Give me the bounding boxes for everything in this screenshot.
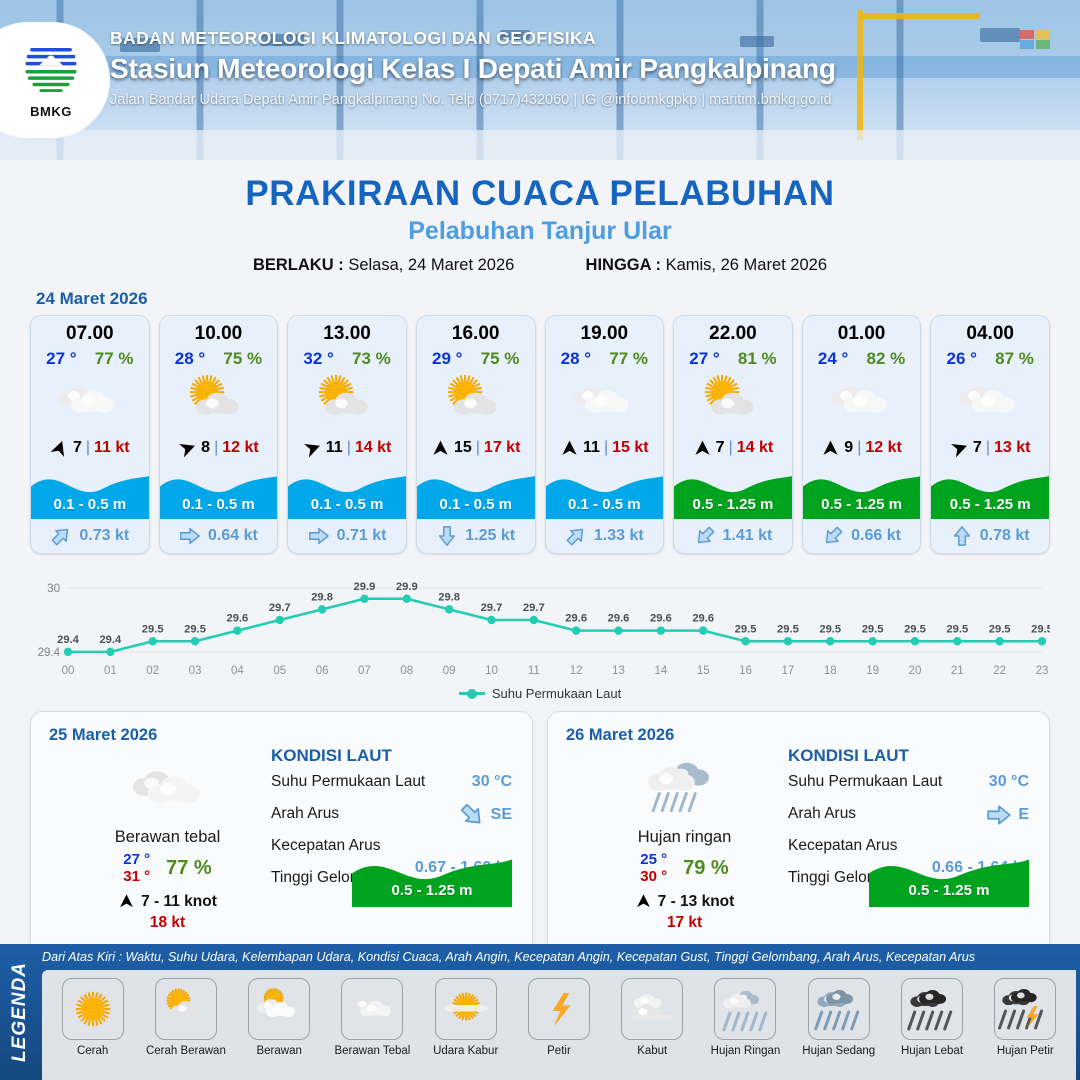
card-temperature: 24 ° — [818, 349, 848, 369]
chart-legend-swatch — [459, 692, 485, 695]
legend-icon-udara-kabur — [435, 978, 497, 1040]
svg-text:12: 12 — [570, 665, 583, 677]
card-weather-icon — [160, 371, 278, 433]
current-direction-value: E — [1018, 806, 1029, 824]
wind-direction-icon — [431, 439, 450, 458]
card-gust: 14 kt — [737, 439, 773, 457]
daily-humidity: 77 % — [166, 857, 212, 880]
validity-range: BERLAKU : Selasa, 24 Maret 2026 HINGGA :… — [0, 256, 1080, 275]
card-wave: 0.5 - 1.25 m — [931, 463, 1049, 519]
legend-item-label: Hujan Ringan — [699, 1045, 792, 1057]
card-wind: 7 | 13 kt — [931, 433, 1049, 463]
legend-side-label-wrap: LEGENDA — [0, 944, 40, 1080]
legend-item: Hujan Sedang — [792, 978, 885, 1057]
card-time: 16.00 — [417, 316, 535, 345]
svg-text:29.9: 29.9 — [396, 581, 418, 593]
daily-humidity: 79 % — [683, 857, 729, 880]
legend-icon-hujan-ringan — [714, 978, 776, 1040]
svg-text:01: 01 — [104, 665, 117, 677]
daily-wind: 7 - 11 knot — [65, 893, 270, 911]
card-wind-speed: 11 — [326, 439, 343, 457]
card-humidity: 77 % — [609, 349, 648, 369]
wind-direction-icon — [693, 439, 712, 458]
daily-gust: 18 kt — [65, 914, 270, 932]
legend-item-label: Cerah Berawan — [139, 1045, 232, 1057]
card-gust: 11 kt — [94, 439, 130, 457]
card-current-speed: 0.64 kt — [208, 527, 258, 545]
sst-value: 30 °C — [989, 773, 1029, 791]
current-direction-icon — [689, 520, 720, 551]
daily-wave-height: 0.5 - 1.25 m — [869, 882, 1029, 899]
card-wind: 7 | 14 kt — [674, 433, 792, 463]
svg-text:02: 02 — [146, 665, 159, 677]
current-direction-value-wrap: E — [986, 802, 1029, 828]
daily-forecast-panels: 25 Maret 2026 Berawan tebal 27 ° 31 ° 77… — [0, 701, 1080, 959]
legend-item: Cerah Berawan — [139, 978, 232, 1057]
card-wind-speed: 7 — [73, 439, 82, 457]
card-wind: 7 | 11 kt — [31, 433, 149, 463]
card-humidity: 82 % — [867, 349, 906, 369]
legend-item-label: Petir — [512, 1045, 605, 1057]
daily-wind-speed: 7 - 13 knot — [658, 893, 735, 911]
card-wind: 11 | 14 kt — [288, 433, 406, 463]
card-weather-icon — [288, 371, 406, 433]
card-temperature: 29 ° — [432, 349, 462, 369]
legend-icon-hujan-petir — [994, 978, 1056, 1040]
card-wave: 0.1 - 0.5 m — [546, 463, 664, 519]
page-header: BMKG BADAN METEOROLOGI KLIMATOLOGI DAN G… — [0, 0, 1080, 160]
svg-text:29.4: 29.4 — [38, 647, 61, 659]
legend-side-label: LEGENDA — [9, 962, 31, 1062]
sst-value: 30 °C — [472, 773, 512, 791]
sst-row: Suhu Permukaan Laut 30 °C — [788, 773, 1035, 805]
hourly-card[interactable]: 01.00 24 ° 82 % 9 | 12 kt 0.5 - 1.25 m — [802, 315, 922, 554]
daily-wind: 7 - 13 knot — [582, 893, 787, 911]
sea-condition-title: KONDISI LAUT — [271, 746, 518, 766]
card-humidity: 81 % — [738, 349, 777, 369]
berlaku-label: BERLAKU : — [253, 256, 344, 274]
legend-item: Hujan Lebat — [885, 978, 978, 1057]
current-direction-value-wrap: SE — [459, 802, 512, 828]
svg-text:09: 09 — [443, 665, 456, 677]
svg-text:29.5: 29.5 — [862, 623, 884, 635]
legend-item-label: Hujan Petir — [979, 1045, 1072, 1057]
legend-icon-berawan-sun — [248, 978, 310, 1040]
card-temperature: 28 ° — [561, 349, 591, 369]
svg-text:07: 07 — [358, 665, 371, 677]
svg-text:06: 06 — [316, 665, 329, 677]
hourly-card[interactable]: 22.00 27 ° 81 % 7 | 14 kt 0.5 - 1.25 m 1… — [673, 315, 793, 554]
card-current-speed: 1.25 kt — [465, 527, 515, 545]
card-time: 19.00 — [546, 316, 664, 345]
daily-wave-graphic: 0.5 - 1.25 m — [352, 849, 512, 907]
card-time: 07.00 — [31, 316, 149, 345]
card-humidity: 75 % — [223, 349, 262, 369]
daily-weather-icon — [582, 754, 787, 822]
svg-text:29.6: 29.6 — [692, 613, 714, 625]
station-name: Stasiun Meteorologi Kelas I Depati Amir … — [110, 53, 836, 85]
svg-text:29.4: 29.4 — [99, 634, 122, 646]
card-current: 0.64 kt — [160, 519, 278, 553]
card-gust: 13 kt — [994, 439, 1030, 457]
wind-direction-icon — [300, 436, 324, 460]
bmkg-emblem-icon — [22, 42, 80, 98]
svg-text:03: 03 — [189, 665, 202, 677]
legend-item: Cerah — [46, 978, 139, 1057]
daily-temp-min: 25 ° — [640, 851, 667, 868]
svg-text:29.5: 29.5 — [184, 623, 206, 635]
card-wind-speed: 7 — [716, 439, 725, 457]
card-wave-height: 0.1 - 0.5 m — [417, 496, 535, 513]
card-weather-icon — [674, 371, 792, 433]
svg-text:29.5: 29.5 — [946, 623, 968, 635]
card-current-speed: 0.78 kt — [980, 527, 1030, 545]
card-gust: 14 kt — [355, 439, 391, 457]
card-wind-speed: 15 — [454, 439, 472, 457]
wind-direction-icon — [635, 893, 652, 910]
legend-icon-kabut — [621, 978, 683, 1040]
card-temperature: 27 ° — [46, 349, 76, 369]
card-gust: 15 kt — [612, 439, 648, 457]
card-wave-height: 0.5 - 1.25 m — [931, 496, 1049, 513]
legend-item: Udara Kabur — [419, 978, 512, 1057]
card-wind-speed: 7 — [973, 439, 982, 457]
current-direction-icon — [179, 525, 201, 547]
card-wave: 0.5 - 1.25 m — [803, 463, 921, 519]
card-temperature: 28 ° — [175, 349, 205, 369]
svg-text:10: 10 — [485, 665, 498, 677]
legend-item-label: Cerah — [46, 1045, 139, 1057]
legend-icon-hujan-sedang — [808, 978, 870, 1040]
svg-text:11: 11 — [528, 665, 540, 677]
card-humidity: 75 % — [481, 349, 520, 369]
card-wave-height: 0.5 - 1.25 m — [803, 496, 921, 513]
daily-date: 26 Maret 2026 — [566, 726, 1031, 745]
wind-direction-icon — [560, 439, 579, 458]
card-weather-icon — [803, 371, 921, 433]
current-direction-icon — [436, 525, 458, 547]
card-current: 1.41 kt — [674, 519, 792, 553]
svg-text:29.6: 29.6 — [565, 613, 587, 625]
chart-legend-label: Suhu Permukaan Laut — [492, 686, 621, 701]
card-wind: 15 | 17 kt — [417, 433, 535, 463]
legend-item: Hujan Ringan — [699, 978, 792, 1057]
current-direction-icon — [818, 520, 849, 551]
svg-text:29.5: 29.5 — [1031, 623, 1050, 635]
legend-section: LEGENDA Dari Atas Kiri : Waktu, Suhu Uda… — [0, 944, 1080, 1080]
legend-icon-petir — [528, 978, 590, 1040]
card-current: 1.33 kt — [546, 519, 664, 553]
daily-condition: Berawan tebal — [65, 828, 270, 847]
card-time: 01.00 — [803, 316, 921, 345]
legend-note: Dari Atas Kiri : Waktu, Suhu Udara, Kele… — [42, 950, 1074, 964]
svg-text:15: 15 — [697, 665, 710, 677]
svg-text:29.6: 29.6 — [227, 613, 249, 625]
legend-icon-cerah — [62, 978, 124, 1040]
card-weather-icon — [31, 371, 149, 433]
legend-icon-hujan-lebat — [901, 978, 963, 1040]
legend-item-label: Udara Kabur — [419, 1045, 512, 1057]
card-gust: 12 kt — [865, 439, 901, 457]
card-time: 22.00 — [674, 316, 792, 345]
hourly-date-label: 24 Maret 2026 — [36, 289, 1080, 309]
daily-condition: Hujan ringan — [582, 828, 787, 847]
current-direction-icon — [951, 525, 973, 547]
card-current: 0.71 kt — [288, 519, 406, 553]
card-wind: 8 | 12 kt — [160, 433, 278, 463]
card-weather-icon — [931, 371, 1049, 433]
svg-text:13: 13 — [612, 665, 625, 677]
svg-text:08: 08 — [400, 665, 413, 677]
legend-items-row: Cerah Cerah Berawan Berawan Berawan Teba… — [42, 970, 1076, 1080]
card-wave: 0.1 - 0.5 m — [160, 463, 278, 519]
svg-text:29.5: 29.5 — [904, 623, 926, 635]
card-wind: 11 | 15 kt — [546, 433, 664, 463]
card-wave-height: 0.1 - 0.5 m — [31, 496, 149, 513]
svg-text:19: 19 — [866, 665, 879, 677]
svg-text:14: 14 — [654, 665, 667, 677]
card-weather-icon — [417, 371, 535, 433]
card-temperature: 27 ° — [689, 349, 719, 369]
current-direction-icon — [46, 520, 77, 551]
legend-item-label: Berawan — [233, 1045, 326, 1057]
svg-text:29.5: 29.5 — [819, 623, 841, 635]
hourly-card[interactable]: 19.00 28 ° 77 % 11 | 15 kt 0.1 - 0.5 m — [545, 315, 665, 554]
port-name: Pelabuhan Tanjur Ular — [0, 217, 1080, 246]
daily-panel[interactable]: 26 Maret 2026 Hujan ringan 25 ° 30 ° 79 … — [547, 711, 1050, 959]
station-address: Jalan Bandar Udara Depati Amir Pangkalpi… — [110, 92, 836, 108]
svg-text:29.6: 29.6 — [650, 613, 672, 625]
svg-text:29.8: 29.8 — [311, 591, 333, 603]
hourly-card[interactable]: 13.00 32 ° 73 % 11 | 14 kt 0.1 - 0.5 m 0… — [287, 315, 407, 554]
legend-item: Petir — [512, 978, 605, 1057]
hourly-card[interactable]: 10.00 28 ° 75 % 8 | 12 kt 0.1 - 0.5 m 0.… — [159, 315, 279, 554]
daily-gust: 17 kt — [582, 914, 787, 932]
sst-label: Suhu Permukaan Laut — [788, 773, 942, 790]
daily-wave-height: 0.5 - 1.25 m — [352, 882, 512, 899]
bmkg-logo-text: BMKG — [20, 104, 82, 119]
svg-text:04: 04 — [231, 665, 244, 677]
legend-icon-berawan-tebal — [341, 978, 403, 1040]
daily-wind-speed: 7 - 11 knot — [141, 893, 217, 911]
card-time: 13.00 — [288, 316, 406, 345]
current-direction-icon — [560, 520, 591, 551]
card-current-speed: 0.71 kt — [337, 527, 387, 545]
daily-temp-min: 27 ° — [123, 851, 150, 868]
current-direction-value: SE — [491, 806, 512, 824]
svg-text:20: 20 — [909, 665, 922, 677]
legend-item-label: Kabut — [606, 1045, 699, 1057]
svg-text:29.7: 29.7 — [523, 602, 545, 614]
card-wind: 9 | 12 kt — [803, 433, 921, 463]
daily-weather-icon — [65, 754, 270, 822]
svg-text:30: 30 — [47, 583, 60, 595]
legend-icon-cerah-berawan — [155, 978, 217, 1040]
card-current-speed: 0.73 kt — [79, 527, 129, 545]
berlaku-value: Selasa, 24 Maret 2026 — [348, 256, 514, 274]
legend-item-label: Hujan Sedang — [792, 1045, 885, 1057]
legend-item: Berawan Tebal — [326, 978, 419, 1057]
card-humidity: 77 % — [95, 349, 134, 369]
wind-direction-icon — [175, 436, 199, 460]
legend-item-label: Hujan Lebat — [885, 1045, 978, 1057]
page-title: PRAKIRAAN CUACA PELABUHAN — [0, 174, 1080, 214]
svg-text:29.7: 29.7 — [481, 602, 503, 614]
card-time: 10.00 — [160, 316, 278, 345]
card-wave-height: 0.1 - 0.5 m — [546, 496, 664, 513]
legend-item: Berawan — [233, 978, 326, 1057]
hourly-card[interactable]: 04.00 26 ° 87 % 7 | 13 kt 0.5 - 1.25 m — [930, 315, 1050, 554]
card-current: 0.78 kt — [931, 519, 1049, 553]
svg-text:16: 16 — [739, 665, 752, 677]
card-wind-speed: 11 — [583, 439, 600, 457]
sst-label: Suhu Permukaan Laut — [271, 773, 425, 790]
card-current-speed: 0.66 kt — [851, 527, 901, 545]
card-wave-height: 0.1 - 0.5 m — [288, 496, 406, 513]
svg-text:29.9: 29.9 — [354, 581, 376, 593]
svg-text:29.5: 29.5 — [142, 623, 164, 635]
card-wave: 0.1 - 0.5 m — [288, 463, 406, 519]
current-direction-label: Arah Arus — [271, 805, 339, 822]
card-time: 04.00 — [931, 316, 1049, 345]
svg-text:29.4: 29.4 — [57, 634, 80, 646]
card-current: 0.66 kt — [803, 519, 921, 553]
wind-direction-icon — [821, 439, 840, 458]
chart-legend: Suhu Permukaan Laut — [0, 686, 1080, 701]
svg-text:29.5: 29.5 — [777, 623, 799, 635]
card-wind-speed: 8 — [201, 439, 210, 457]
sea-condition-title: KONDISI LAUT — [788, 746, 1035, 766]
daily-wave-graphic: 0.5 - 1.25 m — [869, 849, 1029, 907]
svg-text:29.7: 29.7 — [269, 602, 291, 614]
svg-text:00: 00 — [62, 665, 75, 677]
legend-item-label: Berawan Tebal — [326, 1045, 419, 1057]
current-direction-row: Arah Arus SE — [271, 805, 518, 837]
card-current-speed: 1.33 kt — [594, 527, 644, 545]
svg-text:29.8: 29.8 — [438, 591, 460, 603]
card-wave-height: 0.1 - 0.5 m — [160, 496, 278, 513]
hingga-value: Kamis, 26 Maret 2026 — [666, 256, 827, 274]
card-current-speed: 1.41 kt — [723, 527, 773, 545]
current-direction-label: Arah Arus — [788, 805, 856, 822]
wind-direction-icon — [47, 436, 71, 460]
legend-item: Kabut — [606, 978, 699, 1057]
daily-temp-max: 30 ° — [640, 868, 667, 885]
card-wind-speed: 9 — [844, 439, 853, 457]
sst-row: Suhu Permukaan Laut 30 °C — [271, 773, 518, 805]
daily-date: 25 Maret 2026 — [49, 726, 514, 745]
card-temperature: 32 ° — [303, 349, 333, 369]
card-gust: 12 kt — [222, 439, 258, 457]
svg-text:17: 17 — [782, 665, 795, 677]
svg-text:22: 22 — [993, 665, 1006, 677]
legend-item: Hujan Petir — [979, 978, 1072, 1057]
card-wave: 0.5 - 1.25 m — [674, 463, 792, 519]
card-current: 1.25 kt — [417, 519, 535, 553]
card-wave: 0.1 - 0.5 m — [417, 463, 535, 519]
daily-panel[interactable]: 25 Maret 2026 Berawan tebal 27 ° 31 ° 77… — [30, 711, 533, 959]
hingga-label: HINGGA : — [586, 256, 661, 274]
current-direction-row: Arah Arus E — [788, 805, 1035, 837]
card-temperature: 26 ° — [946, 349, 976, 369]
hourly-card[interactable]: 07.00 27 ° 77 % 7 | 11 kt 0.1 - 0.5 m — [30, 315, 150, 554]
hourly-forecast-row: 07.00 27 ° 77 % 7 | 11 kt 0.1 - 0.5 m — [0, 315, 1080, 554]
card-weather-icon — [546, 371, 664, 433]
hourly-card[interactable]: 16.00 29 ° 75 % 15 | 17 kt 0.1 - 0.5 m 1… — [416, 315, 536, 554]
current-direction-icon — [308, 525, 330, 547]
svg-text:05: 05 — [273, 665, 286, 677]
organization-name: BADAN METEOROLOGI KLIMATOLOGI DAN GEOFIS… — [110, 28, 836, 49]
svg-text:18: 18 — [824, 665, 837, 677]
svg-text:21: 21 — [951, 665, 964, 677]
current-direction-icon — [986, 802, 1012, 828]
title-block: PRAKIRAAN CUACA PELABUHAN Pelabuhan Tanj… — [0, 174, 1080, 275]
current-direction-icon — [453, 797, 490, 834]
sst-chart: 3029.429.40029.40129.50229.50329.60429.7… — [30, 566, 1050, 684]
svg-text:29.5: 29.5 — [735, 623, 757, 635]
daily-temp-max: 31 ° — [123, 868, 150, 885]
svg-text:23: 23 — [1036, 665, 1049, 677]
card-wave: 0.1 - 0.5 m — [31, 463, 149, 519]
card-humidity: 87 % — [995, 349, 1034, 369]
wind-direction-icon — [947, 436, 971, 460]
svg-text:29.6: 29.6 — [608, 613, 630, 625]
card-gust: 17 kt — [484, 439, 520, 457]
card-humidity: 73 % — [352, 349, 391, 369]
wind-direction-icon — [118, 893, 135, 910]
sst-chart-canvas: 3029.429.40029.40129.50229.50329.60429.7… — [30, 566, 1050, 684]
card-current: 0.73 kt — [31, 519, 149, 553]
card-wave-height: 0.5 - 1.25 m — [674, 496, 792, 513]
svg-text:29.5: 29.5 — [989, 623, 1011, 635]
